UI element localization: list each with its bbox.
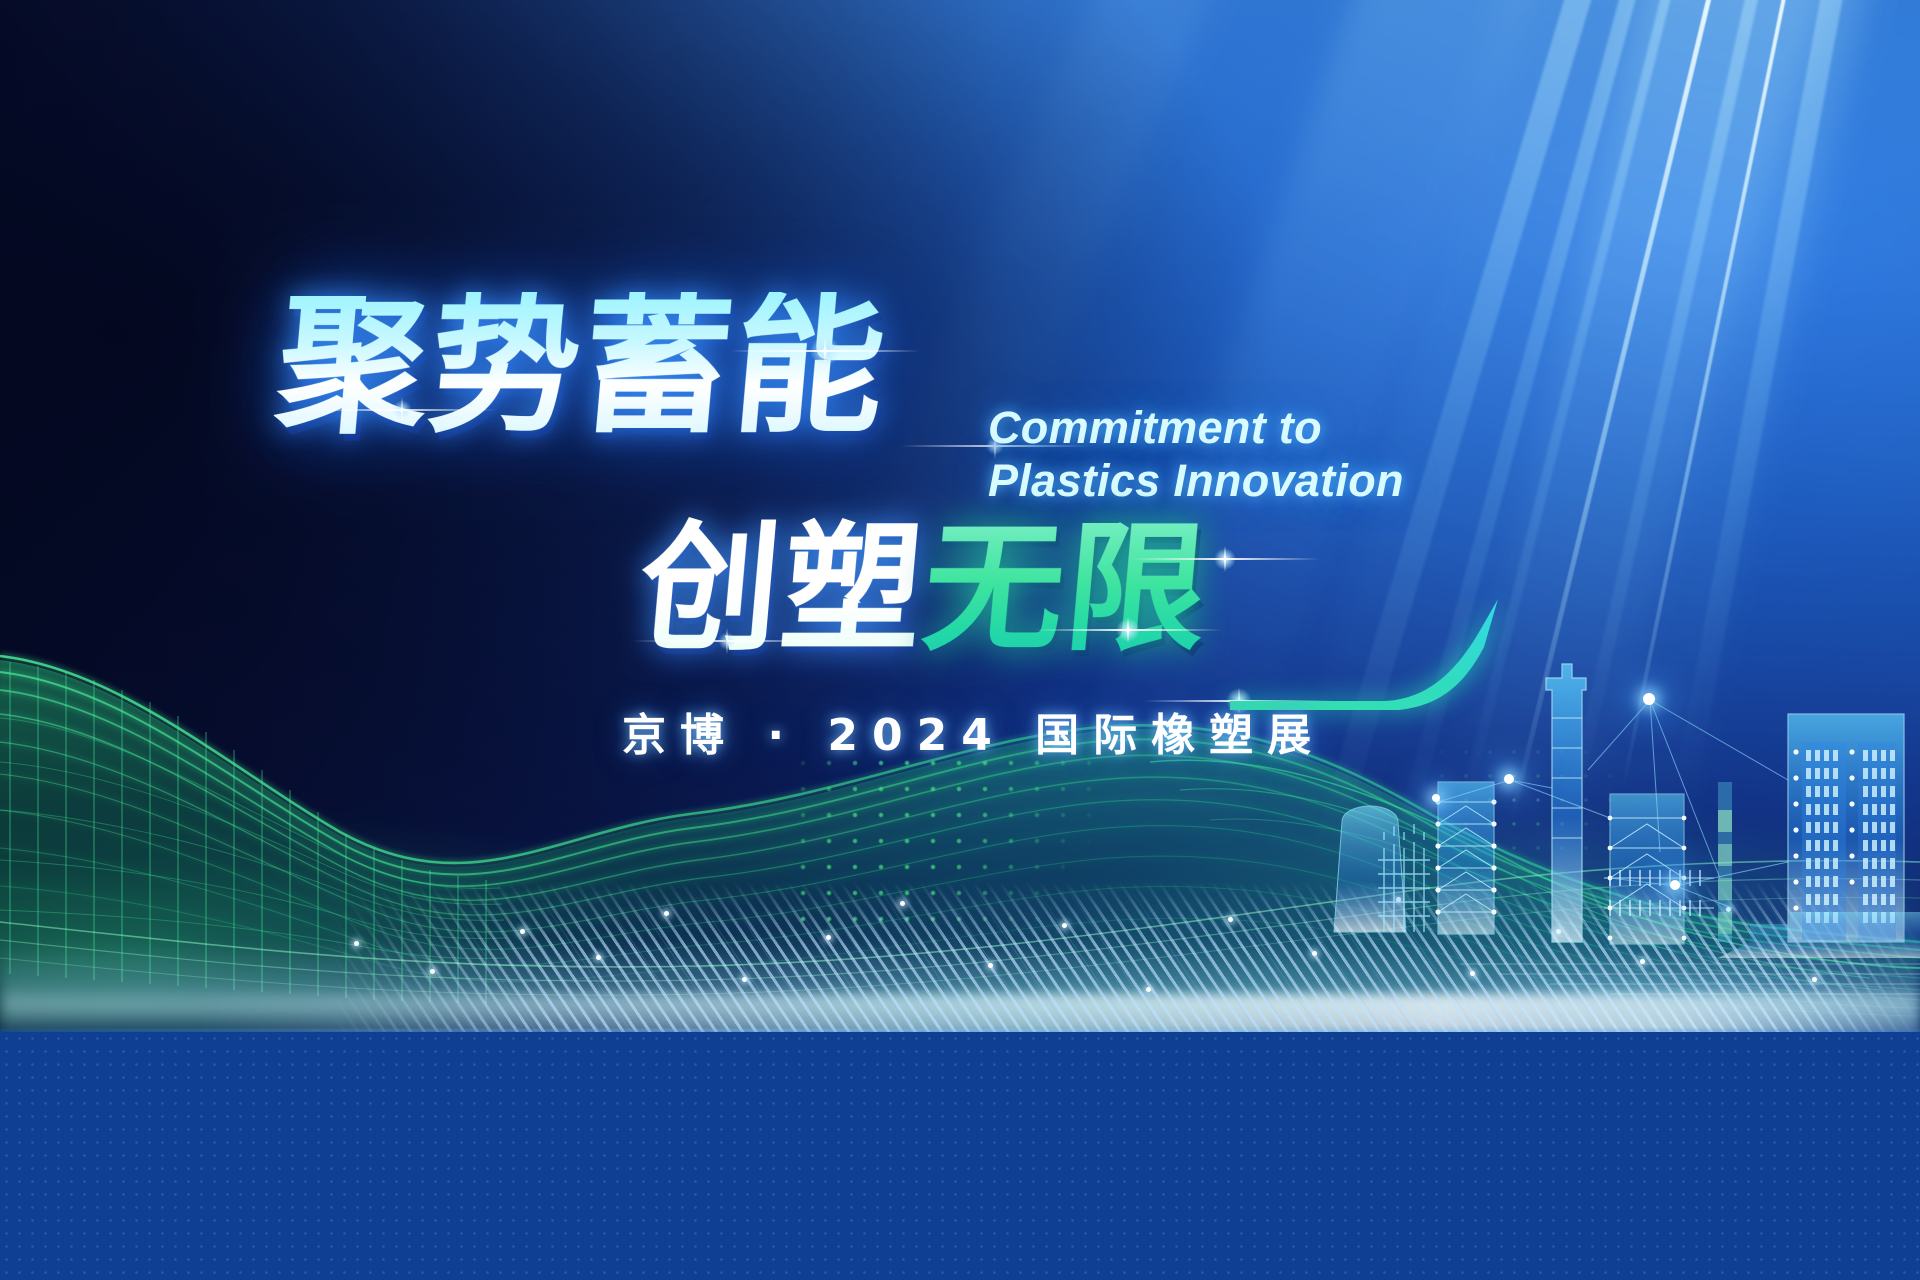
headline-chinese-secondary: 创塑无限 xyxy=(634,520,1214,660)
tagline-english: Commitment to Plastics Innovation xyxy=(988,402,1404,507)
headline-secondary-white: 创塑 xyxy=(633,508,931,671)
tagline-english-line1: Commitment to xyxy=(988,402,1404,455)
headline-secondary-green: 无限 xyxy=(917,508,1215,671)
headline-group: 聚势蓄能 Commitment to Plastics Innovation 创… xyxy=(0,0,1920,1280)
green-swoosh-accent xyxy=(1230,575,1500,710)
banner-stage: 聚势蓄能 Commitment to Plastics Innovation 创… xyxy=(0,0,1920,1280)
footer-chinese: 京博 · 2024 国际橡塑展 xyxy=(622,714,1325,758)
title-sparkle xyxy=(1214,548,1236,570)
headline-chinese-primary: 聚势蓄能 xyxy=(271,292,892,442)
tagline-english-line2: Plastics Innovation xyxy=(988,455,1404,508)
